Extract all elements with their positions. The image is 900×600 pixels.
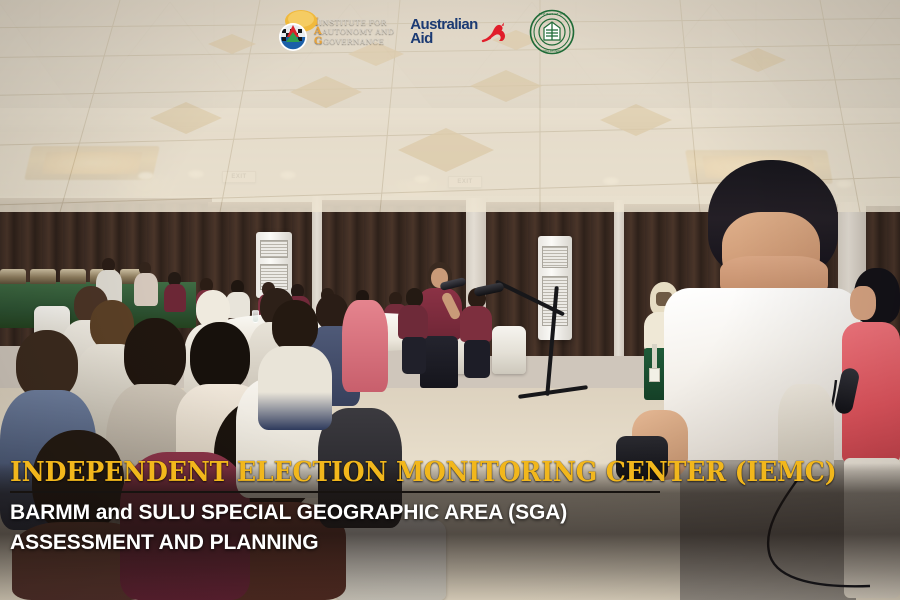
svg-text:REPUBLIC OF THE: REPUBLIC OF THE xyxy=(538,12,565,16)
subtitle: BARMM and SULU SPECIAL GEOGRAPHIC AREA (… xyxy=(10,498,567,558)
iag-line-1: INSTITUTE FOR xyxy=(319,18,387,27)
iag-emblem-icon xyxy=(276,10,320,54)
chafing-dish-3 xyxy=(60,269,86,284)
woman-face xyxy=(850,286,876,320)
iag-line-2: AUTONOMY AND xyxy=(322,27,394,36)
aircon-grill-center-top xyxy=(542,246,568,268)
svg-text:PHILIPPINES: PHILIPPINES xyxy=(543,49,561,53)
chafing-dish-1 xyxy=(0,269,26,284)
banquet-chair-3 xyxy=(492,326,526,374)
chafing-dish-2 xyxy=(30,269,56,284)
title-divider-rule xyxy=(10,491,660,493)
page-title: INDEPENDENT ELECTION MONITORING CENTER (… xyxy=(10,459,836,486)
kangaroo-icon xyxy=(481,21,509,43)
subtitle-line-2: ASSESSMENT AND PLANNING xyxy=(10,528,567,558)
australian-aid-text: Australian Aid xyxy=(410,18,477,47)
audience-pink-sleeve xyxy=(342,300,388,392)
seated-participant-1 xyxy=(458,288,494,378)
australian-aid-line-2: Aid xyxy=(410,32,477,46)
circular-green-seal-icon: REPUBLIC OF THE PHILIPPINES xyxy=(529,9,575,55)
audience-foreground-right xyxy=(656,414,776,600)
logo-bar: IINSTITUTE FOR AAUTONOMY AND GGOVERNANCE… xyxy=(276,4,576,60)
iag-logo-text: IINSTITUTE FOR AAUTONOMY AND GGOVERNANCE xyxy=(314,18,394,47)
philippine-government-seal: REPUBLIC OF THE PHILIPPINES xyxy=(529,9,575,55)
screenshot-root: EXIT EXIT xyxy=(0,0,900,600)
australian-aid-logo: Australian Aid xyxy=(410,18,508,47)
subtitle-line-1: BARMM and SULU SPECIAL GEOGRAPHIC AREA (… xyxy=(10,498,567,528)
audience-jersey xyxy=(258,300,332,430)
seated-participant-2 xyxy=(398,288,430,374)
institute-for-autonomy-and-governance-logo: IINSTITUTE FOR AAUTONOMY AND GGOVERNANCE xyxy=(276,10,394,54)
iag-line-3: GOVERNANCE xyxy=(323,37,384,46)
audience-far-1 xyxy=(164,272,186,312)
aircon-grill-left-top xyxy=(260,240,287,258)
